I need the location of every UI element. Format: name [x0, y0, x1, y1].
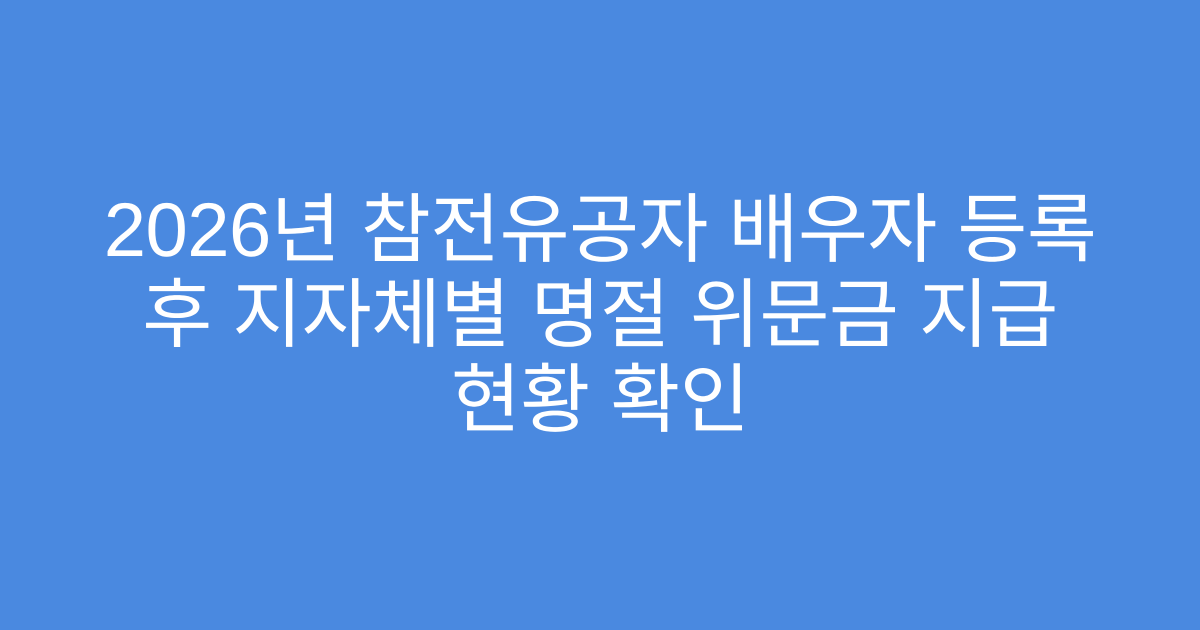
page-title: 2026년 참전유공자 배우자 등록 후 지자체별 명절 위문금 지급 현황 확…: [76, 188, 1124, 443]
og-card: 2026년 참전유공자 배우자 등록 후 지자체별 명절 위문금 지급 현황 확…: [0, 0, 1200, 630]
title-container: 2026년 참전유공자 배우자 등록 후 지자체별 명절 위문금 지급 현황 확…: [0, 188, 1200, 443]
